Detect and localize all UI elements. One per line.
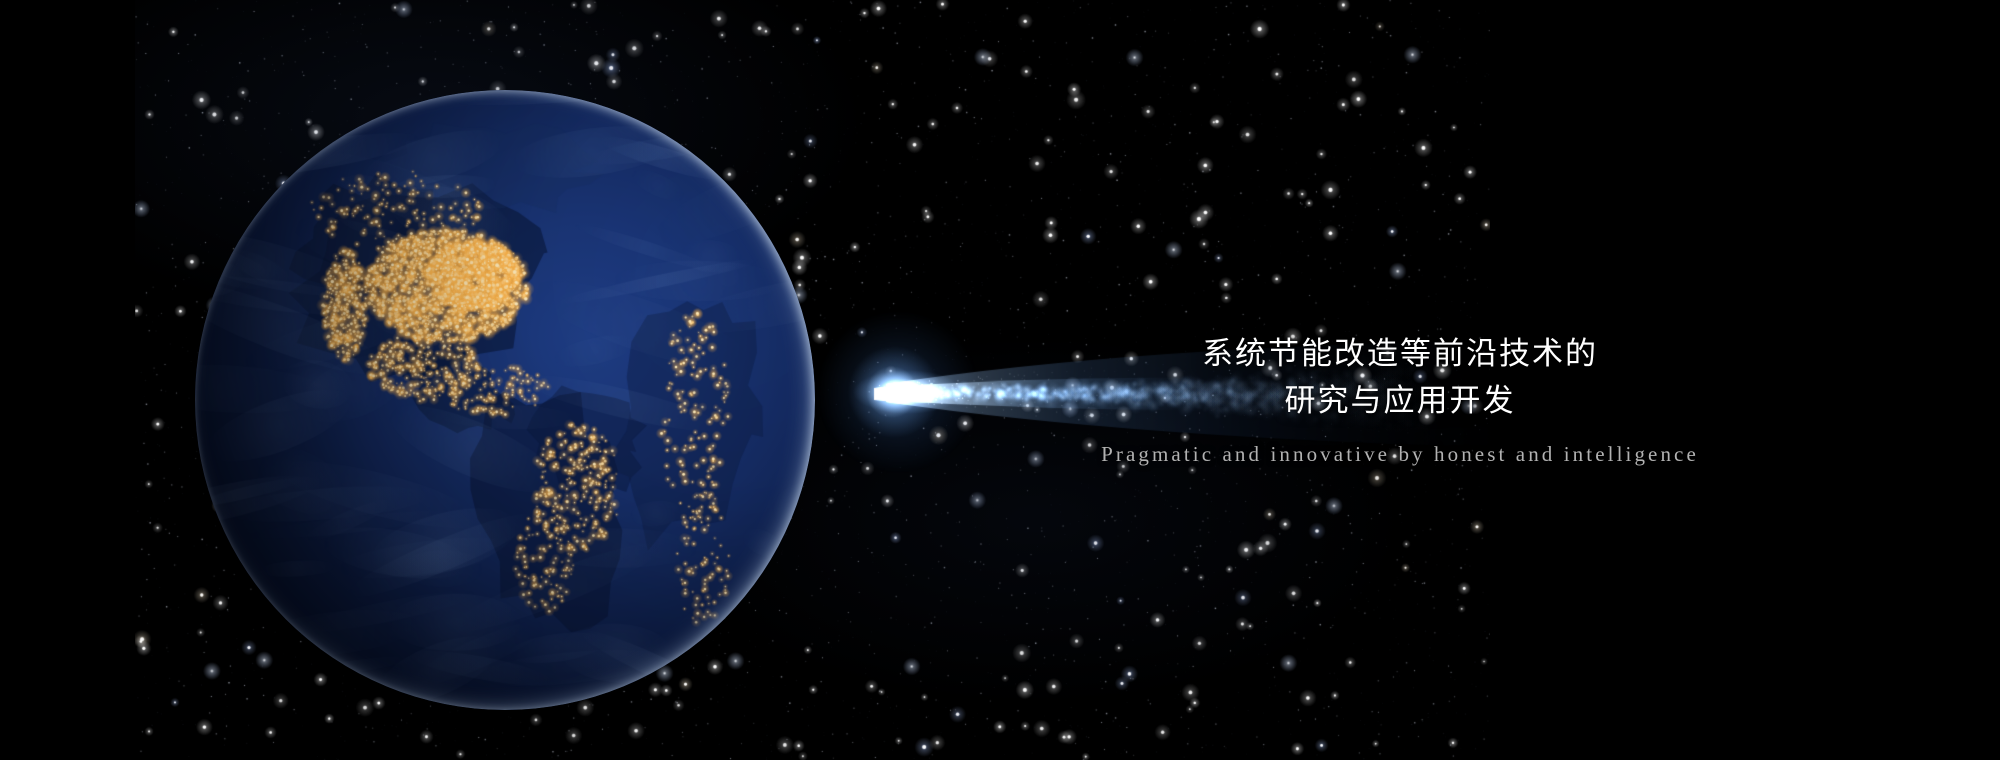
headline-block: 系统节能改造等前沿技术的 研究与应用开发 Pragmatic and innov… [950,330,1850,467]
earth-globe [195,90,815,710]
headline-english-tagline: Pragmatic and innovative by honest and i… [950,442,1850,467]
headline-chinese-line-2: 研究与应用开发 [950,377,1850,424]
banner-stage: 系统节能改造等前沿技术的 研究与应用开发 Pragmatic and innov… [0,0,2000,760]
globe-sphere [195,90,815,710]
headline-chinese-line-1: 系统节能改造等前沿技术的 [950,330,1850,377]
